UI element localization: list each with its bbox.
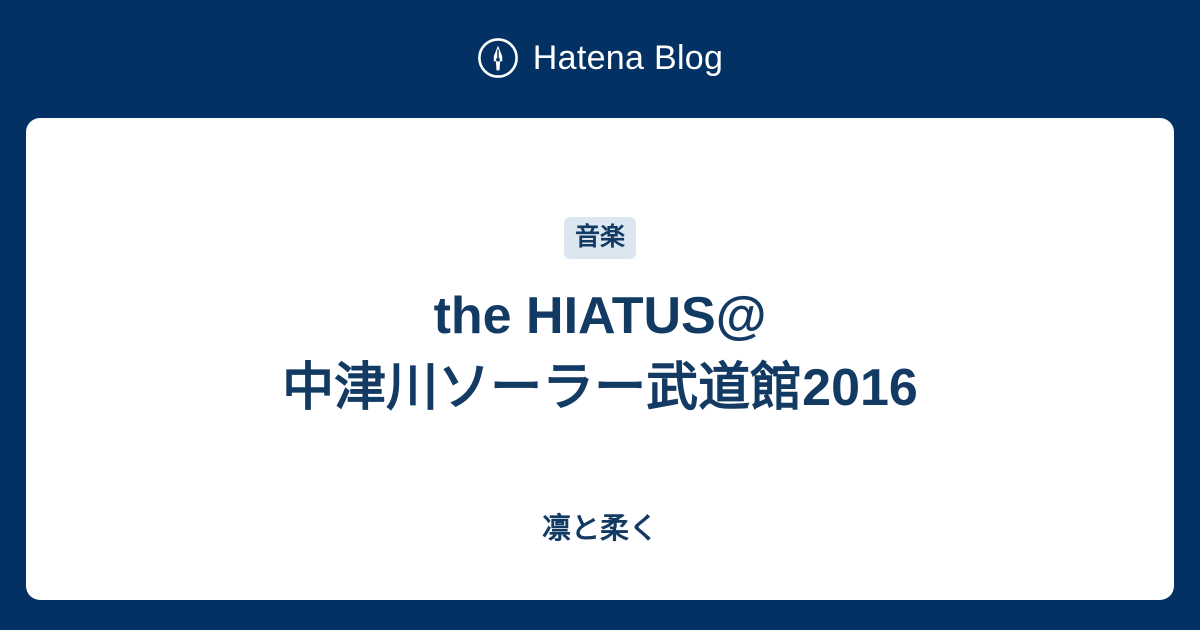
- pen-nib-in-circle-icon: [477, 37, 519, 79]
- blog-name-label[interactable]: 凛と柔く: [542, 512, 658, 547]
- category-tag-music[interactable]: 音楽: [564, 217, 636, 259]
- brand-name-label: Hatena Blog: [533, 41, 723, 75]
- entry-title-line-2: 中津川ソーラー武道館2016: [66, 352, 1134, 424]
- entry-card: 音楽 the HIATUS@ 中津川ソーラー武道館2016 凛と柔く: [26, 118, 1174, 600]
- blog-name-row: 凛と柔く: [26, 512, 1174, 547]
- category-tag-row: 音楽: [564, 217, 636, 259]
- entry-title-line-1: the HIATUS@: [66, 280, 1134, 352]
- service-header: Hatena Blog: [0, 0, 1200, 118]
- entry-card-content: 音楽 the HIATUS@ 中津川ソーラー武道館2016 凛と柔く: [26, 118, 1174, 600]
- hatena-blog-og-card: Hatena Blog 音楽 the HIATUS@ 中津川ソーラー武道館201…: [0, 0, 1200, 630]
- hatena-blog-brand-lockup[interactable]: Hatena Blog: [477, 37, 723, 79]
- entry-title: the HIATUS@ 中津川ソーラー武道館2016: [26, 280, 1174, 424]
